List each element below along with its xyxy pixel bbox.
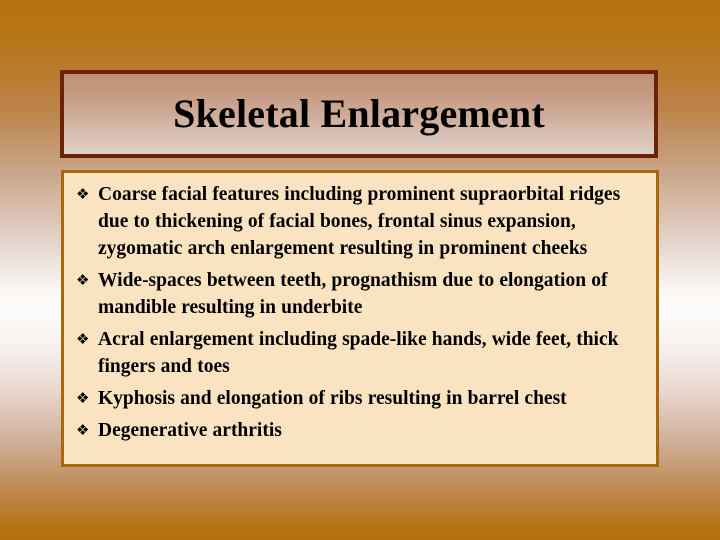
presentation-slide: Skeletal Enlargement ❖ Coarse facial fea…: [0, 0, 720, 540]
list-item: ❖ Acral enlargement including spade-like…: [72, 326, 646, 380]
list-item-text: Acral enlargement including spade-like h…: [98, 326, 646, 380]
slide-title-box: Skeletal Enlargement: [60, 70, 658, 158]
list-item-text: Wide-spaces between teeth, prognathism d…: [98, 267, 646, 321]
slide-content-box: ❖ Coarse facial features including promi…: [61, 170, 659, 467]
diamond-bullet-icon: ❖: [72, 417, 98, 444]
diamond-bullet-icon: ❖: [72, 385, 98, 412]
bullet-list: ❖ Coarse facial features including promi…: [72, 181, 646, 444]
list-item-text: Kyphosis and elongation of ribs resultin…: [98, 385, 646, 412]
list-item-text: Coarse facial features including promine…: [98, 181, 646, 262]
list-item-text: Degenerative arthritis: [98, 417, 646, 444]
list-item: ❖ Degenerative arthritis: [72, 417, 646, 444]
list-item: ❖ Kyphosis and elongation of ribs result…: [72, 385, 646, 412]
diamond-bullet-icon: ❖: [72, 326, 98, 353]
diamond-bullet-icon: ❖: [72, 181, 98, 208]
diamond-bullet-icon: ❖: [72, 267, 98, 294]
list-item: ❖ Coarse facial features including promi…: [72, 181, 646, 262]
list-item: ❖ Wide-spaces between teeth, prognathism…: [72, 267, 646, 321]
page-title: Skeletal Enlargement: [173, 92, 545, 136]
